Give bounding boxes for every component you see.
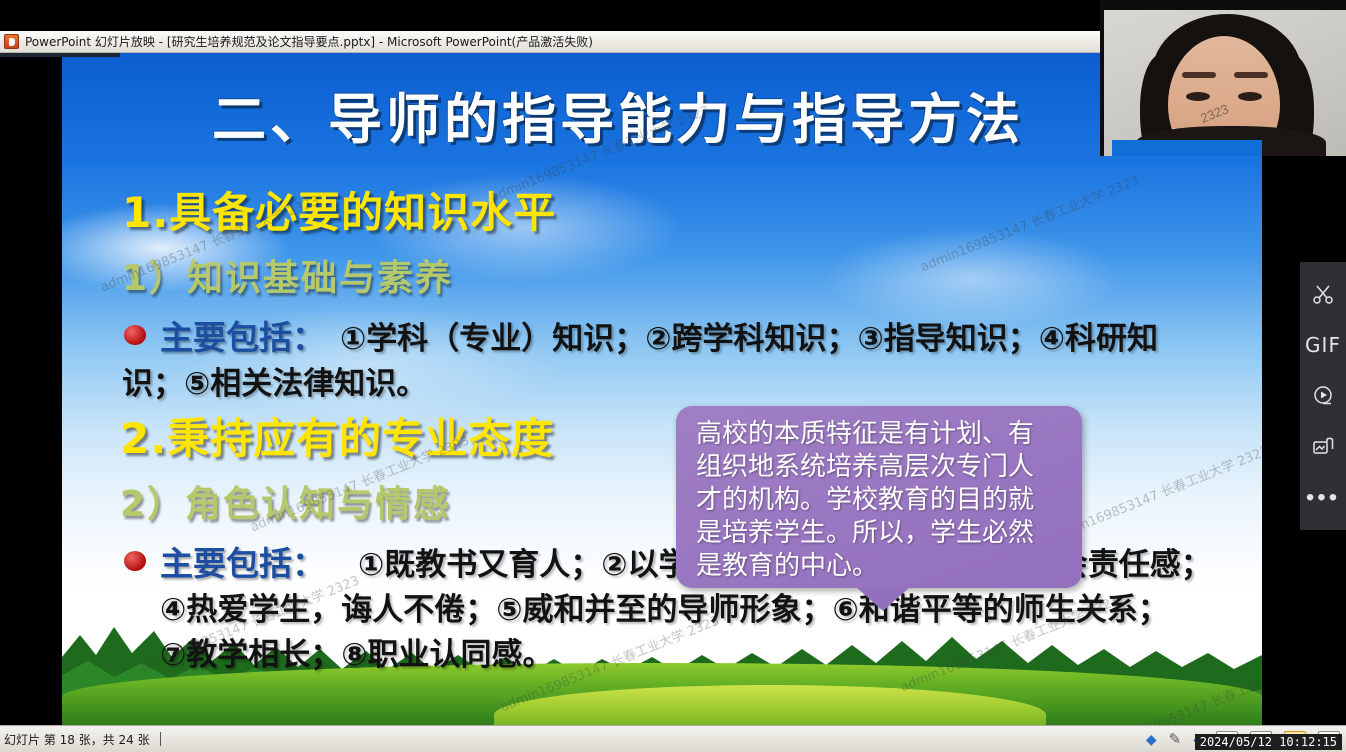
scissors-icon[interactable] — [1303, 271, 1343, 317]
eyebrow-decor — [1182, 72, 1216, 78]
section1-subheading: 1）知识基础与素养 — [122, 249, 453, 301]
bullet1-line1: ①学科（专业）知识；②跨学科知识；③指导知识；④科研知 — [340, 313, 1158, 358]
section2-subheading: 2）角色认知与情感 — [120, 475, 451, 527]
slide-counter: 幻灯片 第 18 张，共 24 张 — [0, 731, 150, 748]
bullet2-line2: ④热爱学生，诲人不倦；⑤威和并至的导师形象；⑥和谐平等的师生关系； — [160, 584, 1169, 629]
gif-icon[interactable]: GIF — [1303, 322, 1343, 368]
screen-root: PowerPoint 幻灯片放映 - [研究生培养规范及论文指导要点.pptx]… — [0, 0, 1346, 752]
gif-label: GIF — [1305, 333, 1341, 357]
bullet1-line2: 识；⑤相关法律知识。 — [122, 358, 427, 403]
webcam-video: 2323 — [1104, 10, 1346, 156]
bullet-dot-icon — [124, 551, 146, 571]
powerpoint-icon — [4, 34, 19, 49]
eye-decor — [1186, 92, 1210, 101]
purple-callout-box[interactable]: 高校的本质特征是有计划、有 组织地系统培养高层次专门人 才的机构。学校教育的目的… — [676, 406, 1082, 588]
eye-decor — [1238, 92, 1262, 101]
tool-rail: GIF ••• — [1300, 262, 1346, 530]
bullet2-line3: ⑦教学相长；⑧职业认同感。 — [160, 629, 554, 674]
section2-heading: 2.秉持应有的专业态度 — [120, 405, 554, 466]
pointer-tool-button[interactable]: ✎ — [1169, 730, 1182, 748]
prev-slide-button[interactable]: ◆ — [1146, 731, 1157, 748]
titlebar-underline — [0, 53, 120, 57]
snapshot-icon[interactable] — [1303, 424, 1343, 470]
eyebrow-decor — [1234, 72, 1268, 78]
webcam-overlay[interactable]: 2323 — [1100, 0, 1346, 156]
callout-text: 高校的本质特征是有计划、有 组织地系统培养高层次专门人 才的机构。学校教育的目的… — [696, 418, 1066, 583]
bullet2-label: 主要包括： — [160, 537, 325, 585]
status-bar: 幻灯片 第 18 张，共 24 张 ◆ ✎ ◆ — [0, 725, 1346, 752]
clock-overlay: 2024/05/12 10:12:15 — [1195, 734, 1342, 750]
more-label: ••• — [1306, 494, 1340, 502]
bullet1-label: 主要包括： — [160, 311, 325, 359]
record-play-icon[interactable] — [1303, 373, 1343, 419]
window-titlebar: PowerPoint 幻灯片放映 - [研究生培养规范及论文指导要点.pptx]… — [0, 31, 1102, 53]
text-caret — [160, 732, 161, 746]
callout-tail — [856, 587, 910, 611]
more-ellipsis-icon[interactable]: ••• — [1303, 475, 1343, 521]
section1-heading: 1.具备必要的知识水平 — [122, 179, 556, 240]
slide-title: 二、导师的指导能力与指导方法 — [212, 75, 1222, 154]
window-title: PowerPoint 幻灯片放映 - [研究生培养规范及论文指导要点.pptx]… — [25, 33, 593, 50]
bullet-dot-icon — [124, 325, 146, 345]
watermark: admin169853147 长春工业大学 2323 — [917, 170, 1142, 275]
slide-canvas[interactable]: admin169853147 长春工业大学 2323 admin16985314… — [62, 53, 1262, 725]
webcam-blue-strip — [1112, 140, 1262, 156]
